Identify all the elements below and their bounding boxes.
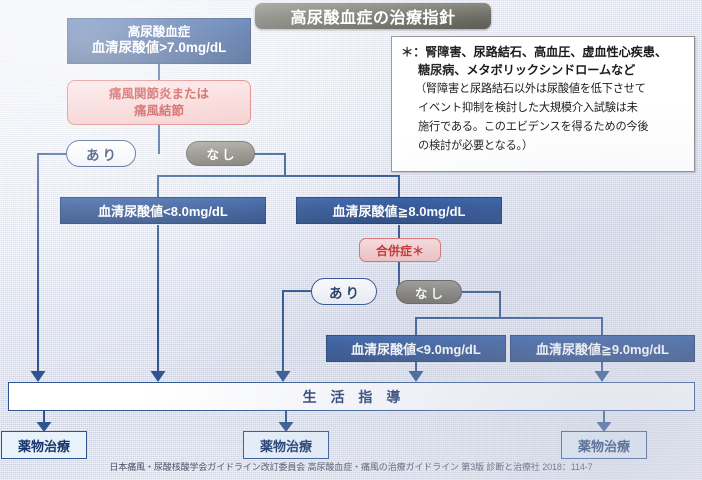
decision-no-comorbidity: なし	[396, 280, 462, 304]
node-hyperuricemia-line1: 高尿酸血症	[128, 25, 191, 41]
citation-text: 日本痛風・尿酸核酸学会ガイドライン改訂委員会 高尿酸血症・痛風の治療ガイドライン…	[0, 460, 702, 473]
node-ua-below-9: 血清尿酸値<9.0mg/dL	[326, 335, 506, 362]
node-gout-arthritis-line1: 痛風関節炎または	[109, 86, 209, 102]
node-ua-atleast-8: 血清尿酸値≧8.0mg/dL	[296, 197, 502, 224]
node-drug-therapy-right: 薬物治療	[561, 431, 647, 459]
footnote-sub-line2: イベント抑制を検討した大規模介入試験は未	[401, 101, 685, 117]
footnote-box: ＊：腎障害、尿路結石、高血圧、虚血性心疾患、 糖尿病、メタボリックシンドロームな…	[391, 36, 695, 172]
diagram-canvas: 高尿酸血症の治療指針 高尿酸血症 血清尿酸値>7.0mg/dL 痛風関節炎または…	[0, 0, 702, 480]
page-title: 高尿酸血症の治療指針	[255, 3, 491, 29]
footnote-sub-line1: （腎障害と尿路結石以外は尿酸値を低下させて	[401, 82, 685, 98]
node-lifestyle-guidance: 生 活 指 導	[8, 382, 695, 411]
node-drug-therapy-center: 薬物治療	[243, 431, 329, 459]
node-ua-below-8: 血清尿酸値<8.0mg/dL	[60, 197, 266, 224]
node-comorbidity: 合併症＊	[359, 238, 441, 262]
node-gout-arthritis-line2: 痛風結節	[134, 103, 184, 119]
node-ua-atleast-9: 血清尿酸値≧9.0mg/dL	[510, 335, 695, 362]
decision-yes-gout: あり	[66, 140, 136, 167]
decision-no-gout: なし	[186, 141, 255, 166]
node-gout-arthritis: 痛風関節炎または 痛風結節	[67, 80, 251, 125]
decision-yes-comorbidity: あり	[311, 278, 377, 305]
footnote-main-line2: 糖尿病、メタボリックシンドロームなど	[401, 62, 685, 80]
node-hyperuricemia: 高尿酸血症 血清尿酸値>7.0mg/dL	[67, 18, 251, 64]
comorbidity-asterisk-icon: ＊	[412, 242, 424, 259]
footnote-sub-line4: の検討が必要となる。）	[401, 139, 685, 155]
node-hyperuricemia-line2: 血清尿酸値>7.0mg/dL	[92, 40, 227, 57]
footnote-main-line1: ＊：腎障害、尿路結石、高血圧、虚血性心疾患、	[401, 44, 685, 62]
node-comorbidity-label: 合併症	[376, 242, 412, 259]
footnote-sub-line3: 施行である。このエビデンスを得るための今後	[401, 120, 685, 136]
node-drug-therapy-left: 薬物治療	[1, 431, 87, 459]
